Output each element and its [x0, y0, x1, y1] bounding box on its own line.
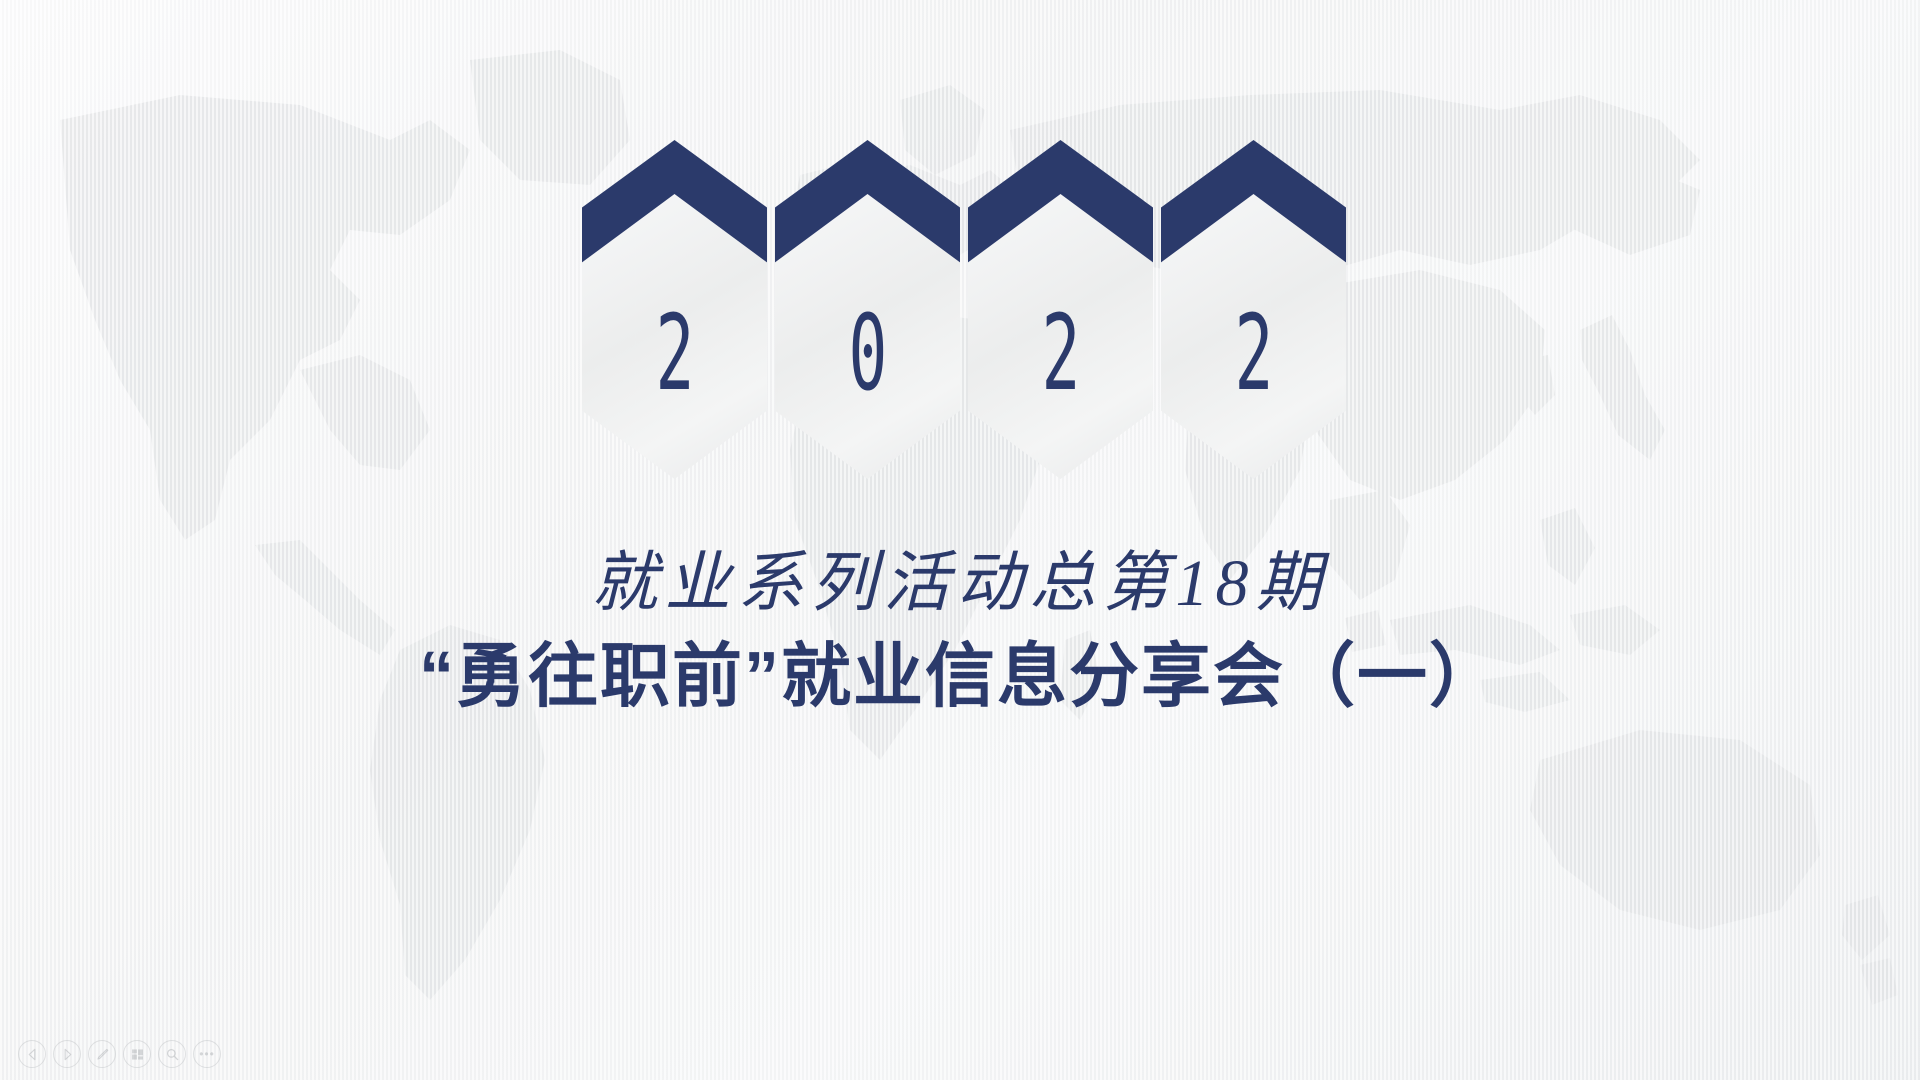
year-hexagon-3: 2 [960, 140, 1153, 515]
year-digit: 2 [1235, 301, 1273, 405]
magnifier-icon [165, 1047, 180, 1062]
more-options-button[interactable]: ••• [193, 1040, 221, 1068]
year-hexagon-group: 2 0 2 2 [574, 140, 1346, 515]
title-block: 就业系列活动总第18期 “勇往职前”就业信息分享会（一） [0, 545, 1920, 722]
year-hexagon-2: 0 [767, 140, 960, 515]
year-digit: 2 [656, 301, 694, 405]
pen-icon [95, 1047, 110, 1062]
triangle-left-icon [25, 1047, 40, 1062]
page-title: “勇往职前”就业信息分享会（一） [0, 631, 1920, 722]
year-digit: 0 [849, 301, 887, 405]
grid-icon [130, 1047, 145, 1062]
next-slide-button[interactable] [53, 1040, 81, 1068]
previous-slide-button[interactable] [18, 1040, 46, 1068]
slideshow-toolbar[interactable]: ••• [18, 1040, 221, 1068]
subtitle-series-line: 就业系列活动总第18期 [0, 545, 1920, 623]
year-hexagon-1: 2 [574, 140, 767, 515]
year-digit: 2 [1042, 301, 1080, 405]
presentation-slide: 2 0 2 2 就业系列活动总第18期 “勇往职前”就业信息分享会（一） [0, 0, 1920, 1080]
ellipsis-icon: ••• [199, 1048, 215, 1060]
slide-overview-button[interactable] [123, 1040, 151, 1068]
zoom-tool-button[interactable] [158, 1040, 186, 1068]
pen-tool-button[interactable] [88, 1040, 116, 1068]
year-hexagon-4: 2 [1153, 140, 1346, 515]
triangle-right-icon [60, 1047, 75, 1062]
